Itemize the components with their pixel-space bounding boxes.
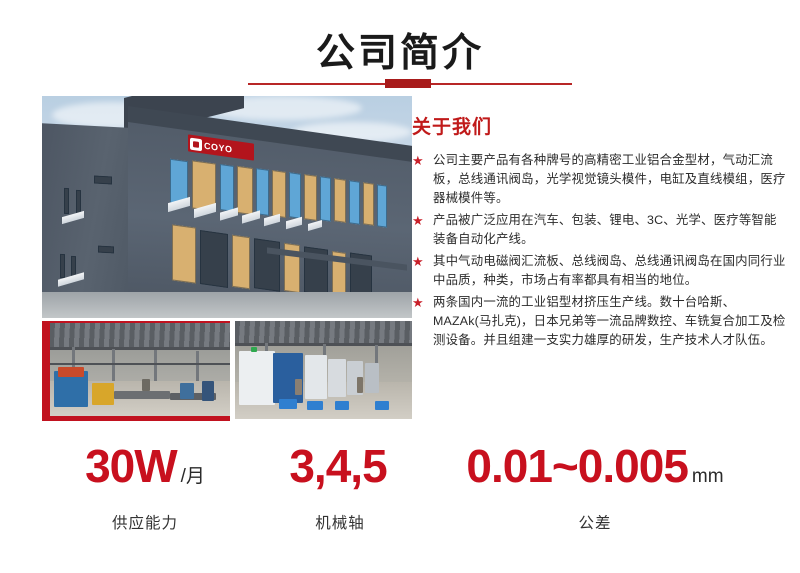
title-underline-accent bbox=[385, 79, 431, 88]
about-us-heading: 关于我们 bbox=[412, 112, 788, 139]
stat-label: 公差 bbox=[430, 511, 760, 533]
list-item: ★ 公司主要产品有各种牌号的高精密工业铝合金型材，气动汇流板，总线通讯阀岛，光学… bbox=[412, 151, 788, 208]
stat-value: 30W/月 bbox=[40, 440, 250, 503]
stat-value: 3,4,5 bbox=[255, 440, 425, 503]
media-column: COYO bbox=[42, 96, 412, 421]
building-ground bbox=[42, 292, 412, 318]
stat-machine-axes: 3,4,5 机械轴 bbox=[255, 440, 425, 533]
stat-number: 0.01~0.005 bbox=[466, 440, 688, 492]
page-title: 公司简介 bbox=[0, 22, 800, 78]
company-profile-page: 公司简介 bbox=[0, 0, 800, 573]
factory-photo-row bbox=[42, 321, 412, 421]
star-icon: ★ bbox=[412, 296, 425, 309]
stat-unit: mm bbox=[692, 466, 724, 487]
star-icon: ★ bbox=[412, 154, 425, 167]
star-icon: ★ bbox=[412, 255, 425, 268]
stat-value: 0.01~0.005mm bbox=[430, 440, 760, 503]
stats-row: 30W/月 供应能力 3,4,5 机械轴 0.01~0.005mm 公差 bbox=[0, 440, 800, 550]
stat-number: 3,4,5 bbox=[289, 440, 386, 492]
stat-unit: /月 bbox=[181, 466, 205, 487]
brand-logo-text: COYO bbox=[204, 140, 233, 154]
page-header: 公司简介 bbox=[0, 0, 800, 95]
stat-supply-capacity: 30W/月 供应能力 bbox=[40, 440, 250, 533]
stat-tolerance: 0.01~0.005mm 公差 bbox=[430, 440, 760, 533]
about-bullet-list: ★ 公司主要产品有各种牌号的高精密工业铝合金型材，气动汇流板，总线通讯阀岛，光学… bbox=[412, 151, 788, 350]
stat-number: 30W bbox=[85, 440, 177, 492]
star-icon: ★ bbox=[412, 214, 425, 227]
bullet-text: 产品被广泛应用在汽车、包装、锂电、3C、光学、医疗等智能装备自动化产线。 bbox=[433, 211, 788, 249]
stat-label: 供应能力 bbox=[40, 511, 250, 533]
brand-logo-mark bbox=[190, 137, 202, 151]
stat-label: 机械轴 bbox=[255, 511, 425, 533]
bullet-text: 其中气动电磁阀汇流板、总线阀岛、总线通讯阀岛在国内同行业中品质，种类，市场占有率… bbox=[433, 252, 788, 290]
list-item: ★ 其中气动电磁阀汇流板、总线阀岛、总线通讯阀岛在国内同行业中品质，种类，市场占… bbox=[412, 252, 788, 290]
bullet-text: 公司主要产品有各种牌号的高精密工业铝合金型材，气动汇流板，总线通讯阀岛，光学视觉… bbox=[433, 151, 788, 208]
company-building-photo: COYO bbox=[42, 96, 412, 318]
list-item: ★ 两条国内一流的工业铝型材挤压生产线。数十台哈斯、MAZAk(马扎克)，日本兄… bbox=[412, 293, 788, 350]
list-item: ★ 产品被广泛应用在汽车、包装、锂电、3C、光学、医疗等智能装备自动化产线。 bbox=[412, 211, 788, 249]
about-us-section: 关于我们 ★ 公司主要产品有各种牌号的高精密工业铝合金型材，气动汇流板，总线通讯… bbox=[412, 112, 788, 353]
extrusion-workshop-photo bbox=[50, 323, 230, 416]
cnc-machining-workshop-photo bbox=[235, 321, 412, 419]
bullet-text: 两条国内一流的工业铝型材挤压生产线。数十台哈斯、MAZAk(马扎克)，日本兄弟等… bbox=[433, 293, 788, 350]
